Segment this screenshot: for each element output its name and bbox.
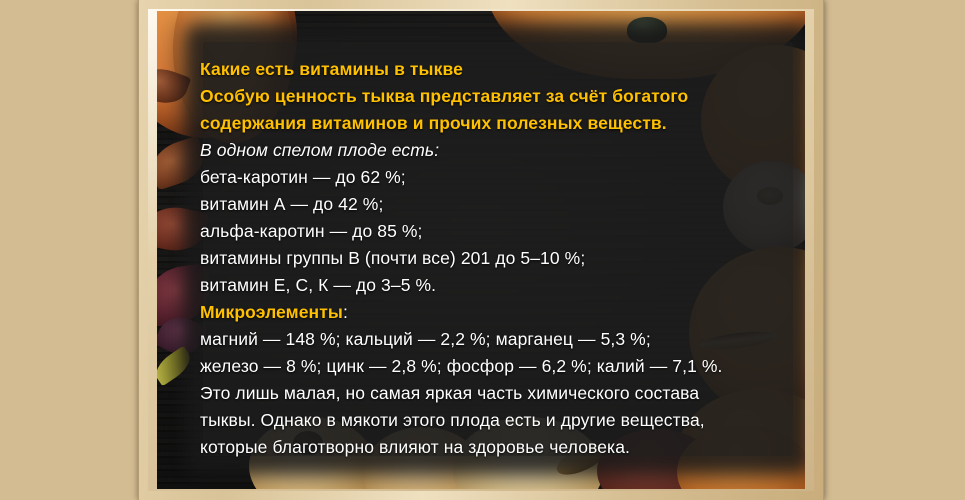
slide-heading: Какие есть витамины в тыкве <box>200 56 760 83</box>
intro-line: В одном спелом плоде есть: <box>200 137 760 164</box>
slide-subheading-line-1: Особую ценность тыква представляет за сч… <box>200 83 760 110</box>
microelements-heading: Микроэлементы: <box>200 299 760 326</box>
closing-line: Это лишь малая, но самая яркая часть хим… <box>200 380 760 407</box>
slide-stage: Какие есть витамины в тыкве Особую ценно… <box>0 0 965 500</box>
microelement-item: магний — 148 %; кальций — 2,2 %; маргане… <box>200 326 760 353</box>
vitamin-item: бета-каротин — до 62 %; <box>200 164 760 191</box>
closing-line: тыквы. Однако в мякоти этого плода есть … <box>200 407 760 434</box>
vitamin-item: альфа-каротин — до 85 %; <box>200 218 760 245</box>
vitamin-item: витамин А — до 42 %; <box>200 191 760 218</box>
microelement-item: железо — 8 %; цинк — 2,8 %; фосфор — 6,2… <box>200 353 760 380</box>
microelements-colon: : <box>343 302 348 322</box>
vitamin-item: витамины группы В (почти все) 201 до 5–1… <box>200 245 760 272</box>
vitamin-item: витамин Е, С, К — до 3–5 %. <box>200 272 760 299</box>
slide-subheading-line-2: содержания витаминов и прочих полезных в… <box>200 110 760 137</box>
slide-text-block: Какие есть витамины в тыкве Особую ценно… <box>200 56 760 461</box>
microelements-label: Микроэлементы <box>200 302 343 322</box>
closing-line: которые благотворно влияют на здоровье ч… <box>200 434 760 461</box>
pumpkin-stem-icon <box>627 17 667 43</box>
